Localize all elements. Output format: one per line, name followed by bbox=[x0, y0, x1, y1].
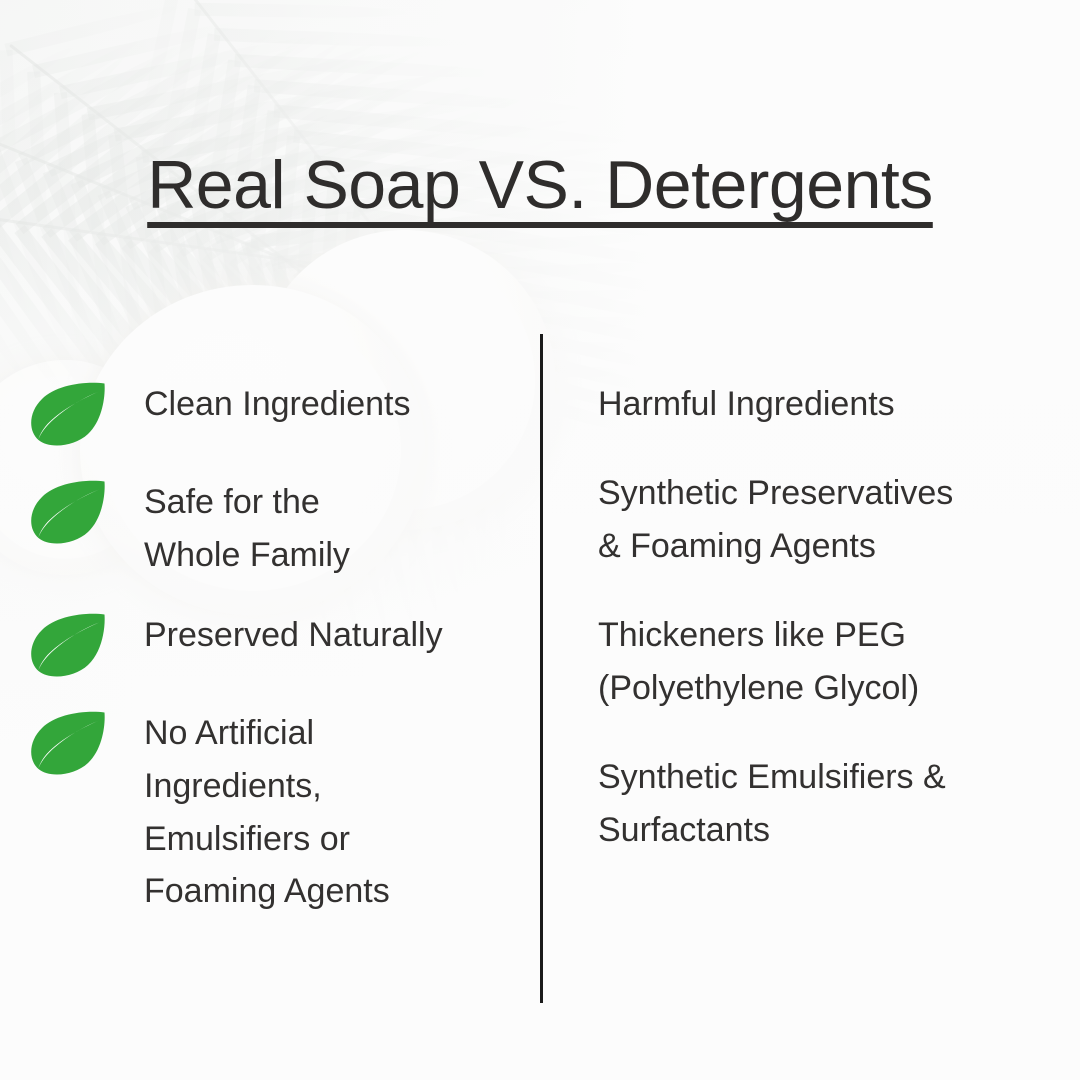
leaf-icon bbox=[30, 613, 106, 679]
page-title: Real Soap VS. Detergents bbox=[147, 146, 933, 224]
list-item: Thickeners like PEG (Polyethylene Glycol… bbox=[598, 609, 1038, 715]
list-item: Harmful Ingredients bbox=[598, 378, 1038, 431]
detergents-column: Harmful Ingredients Synthetic Preservati… bbox=[598, 378, 1038, 893]
leaf-icon bbox=[30, 382, 106, 448]
list-item-label: Safe for the Whole Family bbox=[144, 476, 350, 581]
list-item: No Artificial Ingredients, Emulsifiers o… bbox=[30, 707, 510, 918]
list-item: Synthetic Emulsifiers & Surfactants bbox=[598, 751, 1038, 857]
list-item-label: No Artificial Ingredients, Emulsifiers o… bbox=[144, 707, 390, 918]
leaf-icon bbox=[30, 711, 106, 777]
column-divider bbox=[540, 334, 543, 1003]
list-item-label: Thickeners like PEG (Polyethylene Glycol… bbox=[598, 609, 919, 715]
leaf-icon bbox=[30, 480, 106, 546]
palm-frond-decoration bbox=[0, 61, 345, 404]
list-item-label: Clean Ingredients bbox=[144, 378, 411, 431]
list-item: Safe for the Whole Family bbox=[30, 476, 510, 581]
list-item: Clean Ingredients bbox=[30, 378, 510, 448]
list-item-label: Synthetic Preservatives & Foaming Agents bbox=[598, 467, 953, 573]
list-item-label: Synthetic Emulsifiers & Surfactants bbox=[598, 751, 946, 857]
list-item-label: Harmful Ingredients bbox=[598, 378, 895, 431]
list-item: Preserved Naturally bbox=[30, 609, 510, 679]
list-item-label: Preserved Naturally bbox=[144, 609, 443, 662]
real-soap-column: Clean Ingredients Safe for the Whole Fam… bbox=[30, 378, 510, 946]
list-item: Synthetic Preservatives & Foaming Agents bbox=[598, 467, 1038, 573]
page-title-container: Real Soap VS. Detergents bbox=[0, 146, 1080, 224]
infographic-canvas: Real Soap VS. Detergents Clean Ingredien… bbox=[0, 0, 1080, 1080]
